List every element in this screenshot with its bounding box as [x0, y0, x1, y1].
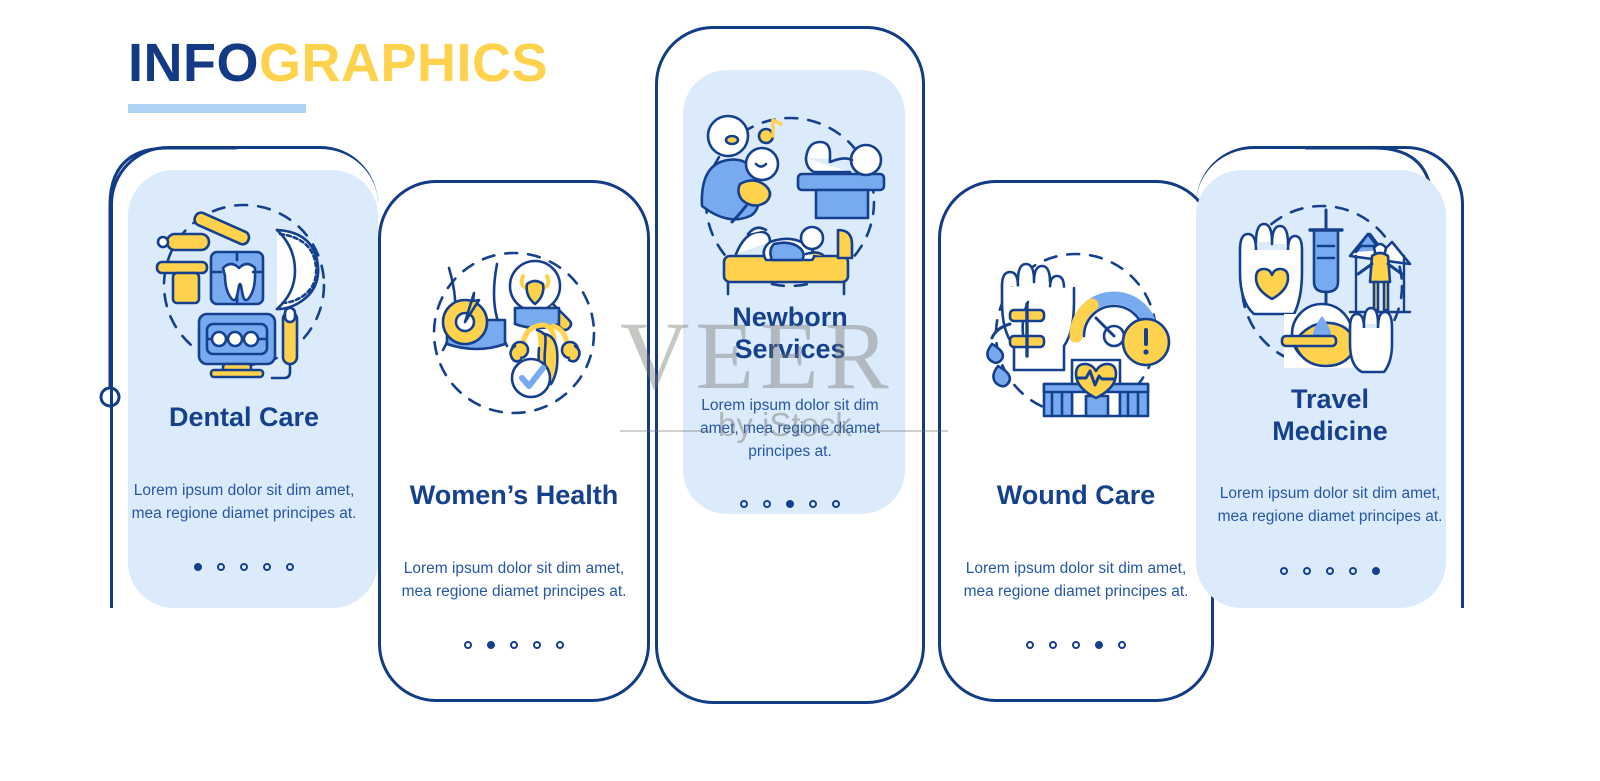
pagination-dot-5[interactable] — [832, 500, 840, 508]
pagination-dot-5[interactable] — [1372, 567, 1380, 575]
pagination-dot-4[interactable] — [263, 563, 271, 571]
card-newborn-services[interactable]: Newborn Services Lorem ipsum dolor sit d… — [655, 26, 925, 704]
pagination-dot-2[interactable] — [487, 641, 495, 649]
card-dental-care-title: Dental Care — [128, 402, 360, 434]
pagination-dot-5[interactable] — [286, 563, 294, 571]
card-womens-health-body: Women’s Health Lorem ipsum dolor sit dim… — [378, 480, 650, 649]
pagination-dot-1[interactable] — [740, 500, 748, 508]
card-travel-medicine-description: Lorem ipsum dolor sit dim amet, mea regi… — [1214, 483, 1446, 529]
card-womens-health-description: Lorem ipsum dolor sit dim amet, mea regi… — [396, 558, 632, 604]
womens-reproductive-health-icon — [419, 238, 609, 428]
card-wound-care[interactable]: Wound Care Lorem ipsum dolor sit dim ame… — [938, 180, 1214, 702]
pagination-dot-5[interactable] — [556, 641, 564, 649]
pagination-dot-1[interactable] — [464, 641, 472, 649]
card-wound-care-description: Lorem ipsum dolor sit dim amet, mea regi… — [956, 558, 1196, 604]
card-travel-medicine-title: Travel Medicine — [1214, 384, 1446, 447]
wound-iv-hospital-icon — [980, 238, 1172, 430]
page-title-part-info: INFO — [128, 33, 259, 93]
card-dental-care-description: Lorem ipsum dolor sit dim amet, mea regi… — [128, 480, 360, 526]
pagination-dot-4[interactable] — [809, 500, 817, 508]
pagination-dot-2[interactable] — [763, 500, 771, 508]
pagination-dot-5[interactable] — [1118, 641, 1126, 649]
pagination-dot-1[interactable] — [1026, 641, 1034, 649]
newborn-baby-care-icon — [688, 102, 892, 302]
pagination-dot-3[interactable] — [1072, 641, 1080, 649]
header: INFOGRAPHICS — [128, 36, 648, 136]
pagination-dot-3[interactable] — [1326, 567, 1334, 575]
pagination-dot-2[interactable] — [1049, 641, 1057, 649]
card-wound-care-pagination-dots[interactable] — [956, 641, 1196, 649]
card-dental-care[interactable]: Dental Care Lorem ipsum dolor sit dim am… — [110, 146, 378, 608]
card-wound-care-title: Wound Care — [956, 480, 1196, 512]
card-womens-health-pagination-dots[interactable] — [396, 641, 632, 649]
dental-chair-braces-icon — [149, 190, 339, 380]
card-newborn-services-title: Newborn Services — [673, 302, 907, 365]
pagination-dot-3[interactable] — [510, 641, 518, 649]
card-womens-health-title: Women’s Health — [396, 480, 632, 512]
card-newborn-services-body: Newborn Services Lorem ipsum dolor sit d… — [655, 302, 925, 508]
title-underline-rule — [128, 104, 306, 113]
pagination-dot-2[interactable] — [217, 563, 225, 571]
card-wound-care-body: Wound Care Lorem ipsum dolor sit dim ame… — [938, 480, 1214, 649]
pagination-dot-2[interactable] — [1303, 567, 1311, 575]
pagination-dot-1[interactable] — [1280, 567, 1288, 575]
page-title: INFOGRAPHICS — [128, 36, 648, 90]
card-dental-care-body: Dental Care Lorem ipsum dolor sit dim am… — [110, 402, 378, 571]
card-womens-health[interactable]: Women’s Health Lorem ipsum dolor sit dim… — [378, 180, 650, 702]
page-title-part-graphics: GRAPHICS — [259, 33, 548, 93]
pagination-dot-4[interactable] — [1349, 567, 1357, 575]
pagination-dot-4[interactable] — [1095, 641, 1103, 649]
card-dental-care-pagination-dots[interactable] — [128, 563, 360, 571]
card-travel-medicine[interactable]: Travel Medicine Lorem ipsum dolor sit di… — [1196, 146, 1464, 608]
pagination-dot-1[interactable] — [194, 563, 202, 571]
pagination-dot-3[interactable] — [786, 500, 794, 508]
pagination-dot-4[interactable] — [533, 641, 541, 649]
card-travel-medicine-pagination-dots[interactable] — [1214, 567, 1446, 575]
travel-vaccine-mountain-icon — [1226, 190, 1418, 382]
card-travel-medicine-body: Travel Medicine Lorem ipsum dolor sit di… — [1196, 384, 1464, 575]
card-newborn-services-description: Lorem ipsum dolor sit dim amet, mea regi… — [673, 395, 907, 464]
pagination-dot-3[interactable] — [240, 563, 248, 571]
card-newborn-services-pagination-dots[interactable] — [673, 500, 907, 508]
